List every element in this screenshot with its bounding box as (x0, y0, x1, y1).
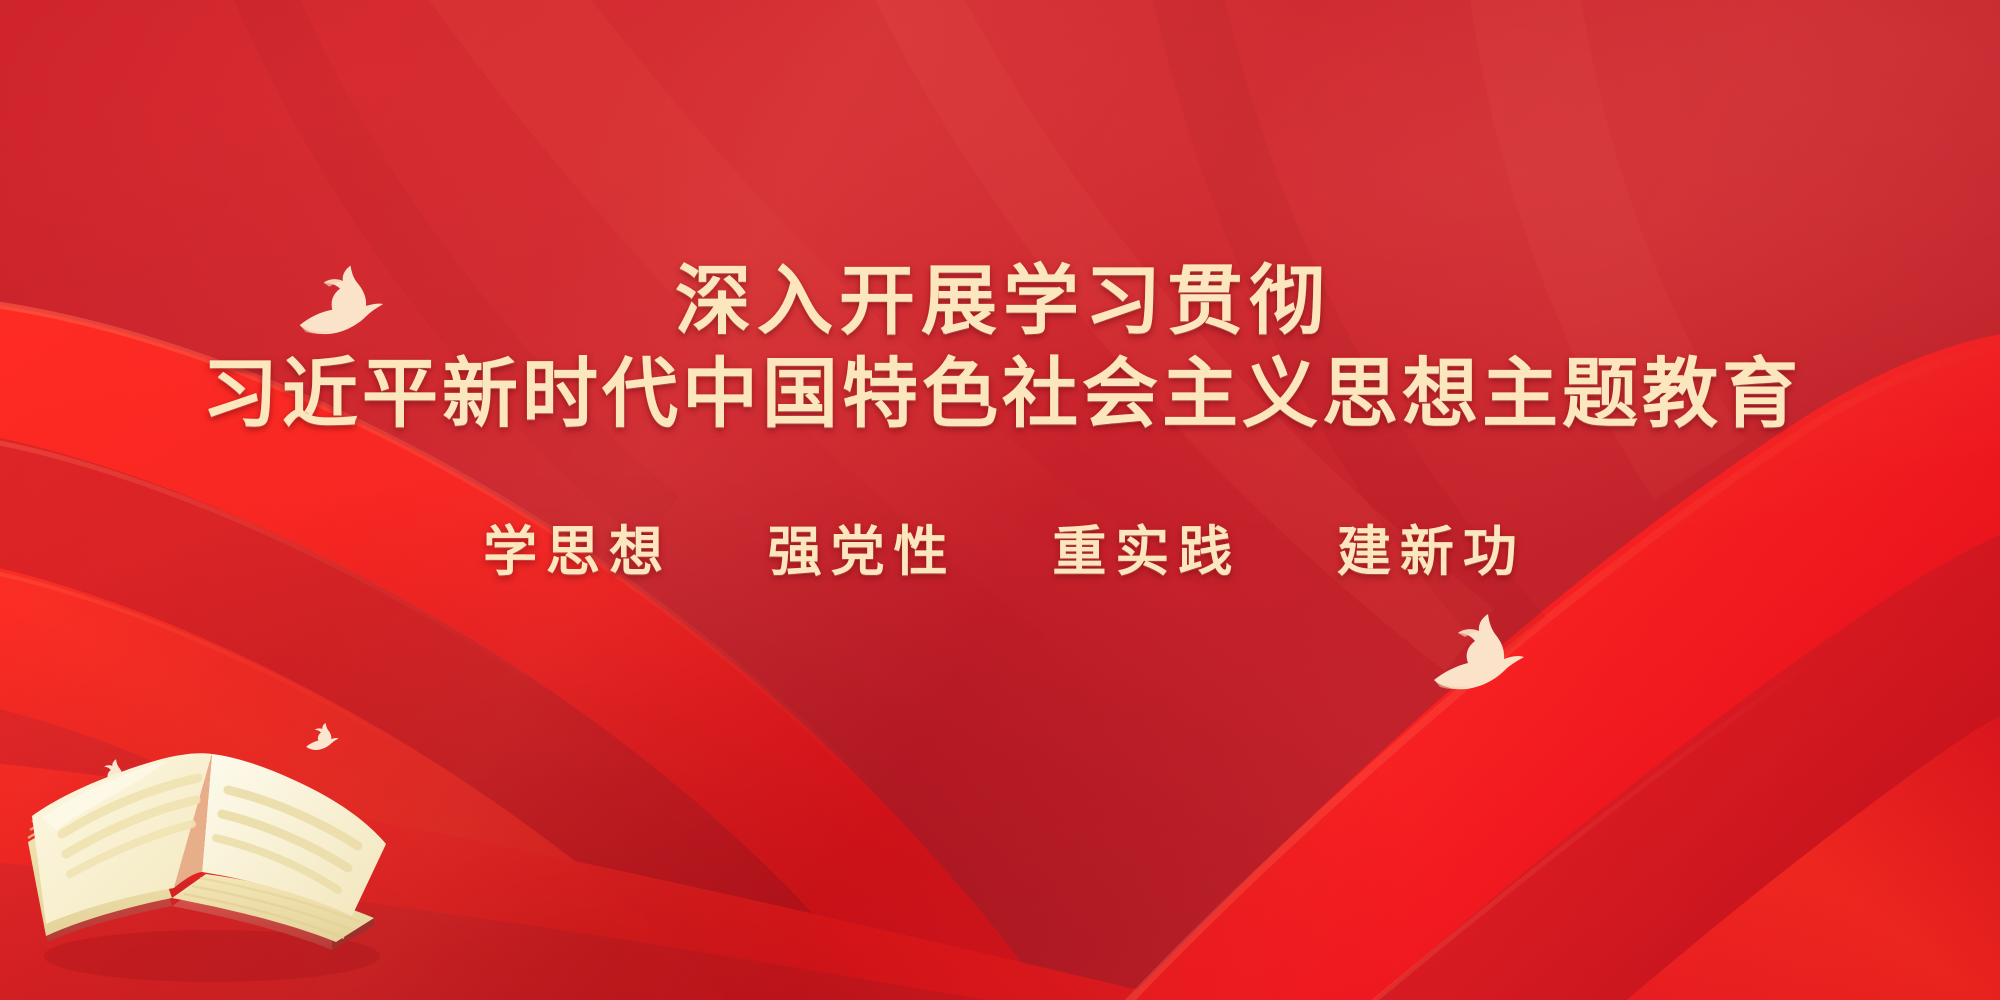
dove-large-subtitle-right (1428, 606, 1528, 706)
banner-title-line-2: 习近平新时代中国特色社会主义思想主题教育 (0, 351, 2000, 438)
subtitle-phrase-3: 重实践 (1052, 519, 1241, 583)
subtitle-phrase-4: 建新功 (1337, 519, 1526, 583)
party-education-banner: 深入开展学习贯彻 习近平新时代中国特色社会主义思想主题教育 学思想 强党性 重实… (0, 0, 2000, 1000)
open-book-illustration (22, 738, 394, 990)
subtitle-phrase-1: 学思想 (483, 519, 672, 583)
banner-subtitle: 学思想 强党性 重实践 建新功 (0, 507, 2000, 586)
subtitle-phrase-2: 强党性 (768, 519, 957, 583)
banner-text-block: 深入开展学习贯彻 习近平新时代中国特色社会主义思想主题教育 学思想 强党性 重实… (0, 258, 2000, 586)
banner-title-line-1: 深入开展学习贯彻 (0, 258, 2000, 345)
